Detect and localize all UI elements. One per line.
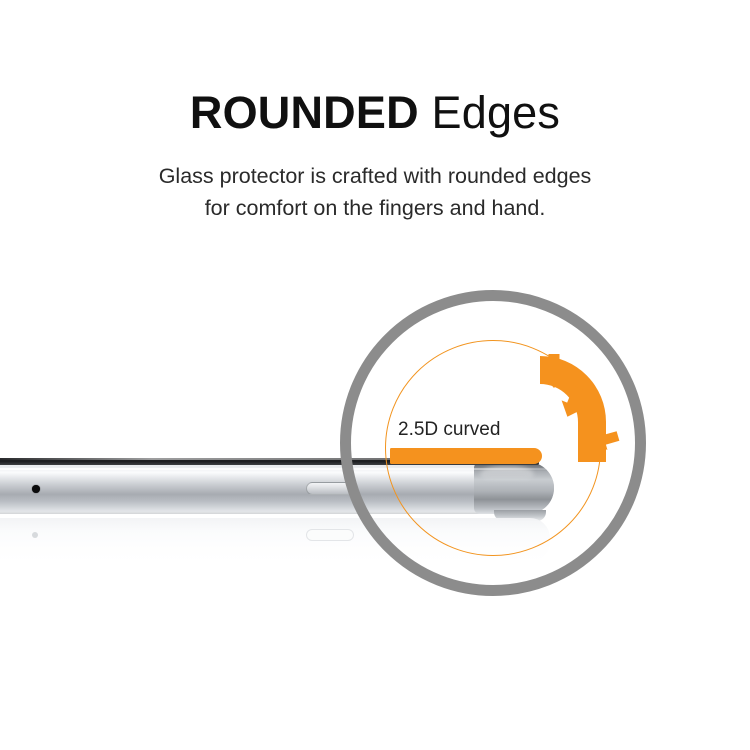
microphone-hole-icon [32, 485, 40, 493]
arrow-1 [542, 354, 566, 388]
magnifier-callout: 2.5D curved [340, 290, 646, 596]
page-subtitle-line-2: for comfort on the fingers and hand. [0, 192, 750, 224]
reflection-microphone-hole [32, 532, 38, 538]
arrow-4 [590, 426, 621, 453]
page-subtitle: Glass protector is crafted with rounded … [0, 160, 750, 224]
product-feature-graphic: ROUNDED Edges Glass protector is crafted… [0, 0, 750, 750]
arrow-3 [574, 402, 608, 436]
page-title-bold: ROUNDED [190, 87, 419, 138]
page-subtitle-line-1: Glass protector is crafted with rounded … [0, 160, 750, 192]
page-title-light: Edges [432, 87, 561, 138]
curve-label: 2.5D curved [398, 418, 500, 442]
heading-block: ROUNDED Edges Glass protector is crafted… [0, 86, 750, 224]
page-title: ROUNDED Edges [0, 86, 750, 140]
pressure-arrows-group [518, 350, 646, 480]
